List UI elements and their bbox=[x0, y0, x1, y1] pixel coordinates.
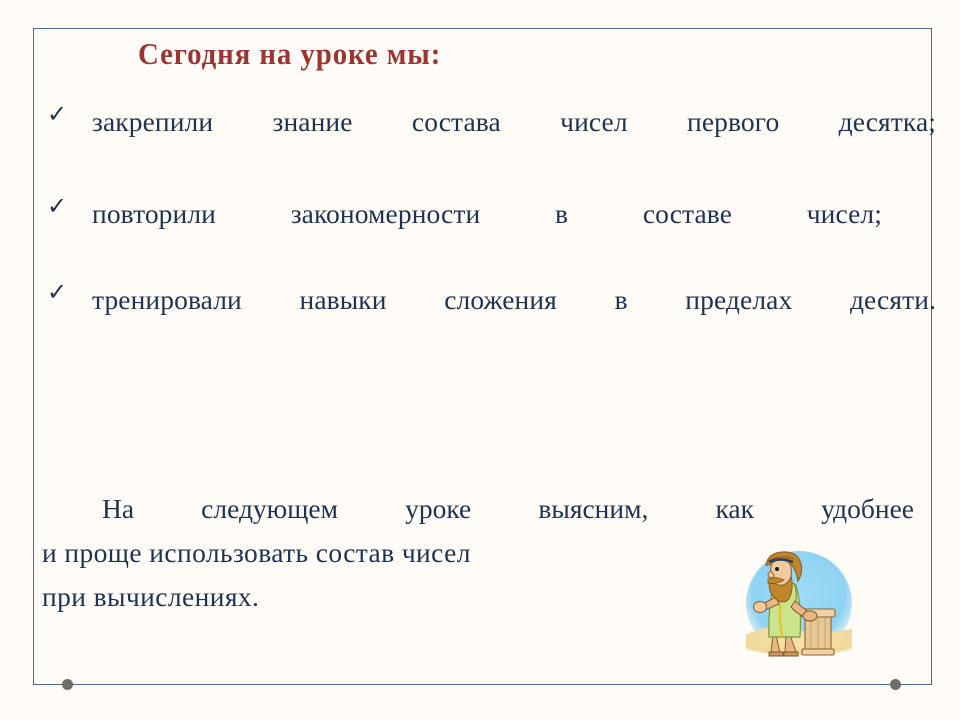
page-title: Сегодня на уроке мы: bbox=[138, 36, 789, 72]
closing-line: На следующем уроке выясним, как удобнее bbox=[42, 487, 914, 531]
list-spacer bbox=[42, 144, 932, 192]
bullet-list: ✓ закрепили знание состава чисел первого… bbox=[42, 100, 932, 322]
list-item: ✓ закрепили знание состава чисел первого… bbox=[42, 100, 932, 144]
checkmark-icon: ✓ bbox=[47, 194, 67, 218]
checkmark-icon: ✓ bbox=[47, 280, 67, 304]
list-item-label: тренировали навыки сложения в пределах д… bbox=[92, 278, 936, 322]
list-item: ✓ повторили закономерности в составе чис… bbox=[42, 192, 932, 236]
slide-canvas: Сегодня на уроке мы: ✓ закрепили знание … bbox=[0, 0, 960, 720]
checkmark-icon: ✓ bbox=[47, 102, 67, 126]
list-item-label: повторили закономерности в составе чисел… bbox=[92, 192, 882, 236]
decorative-dot-right bbox=[890, 679, 901, 690]
list-item: ✓ тренировали навыки сложения в пределах… bbox=[42, 278, 932, 322]
decorative-dot-left bbox=[62, 679, 73, 690]
list-item-label: закрепили знание состава чисел первого д… bbox=[92, 100, 936, 144]
list-spacer bbox=[42, 236, 932, 278]
greek-philosopher-cartoon bbox=[738, 549, 860, 665]
